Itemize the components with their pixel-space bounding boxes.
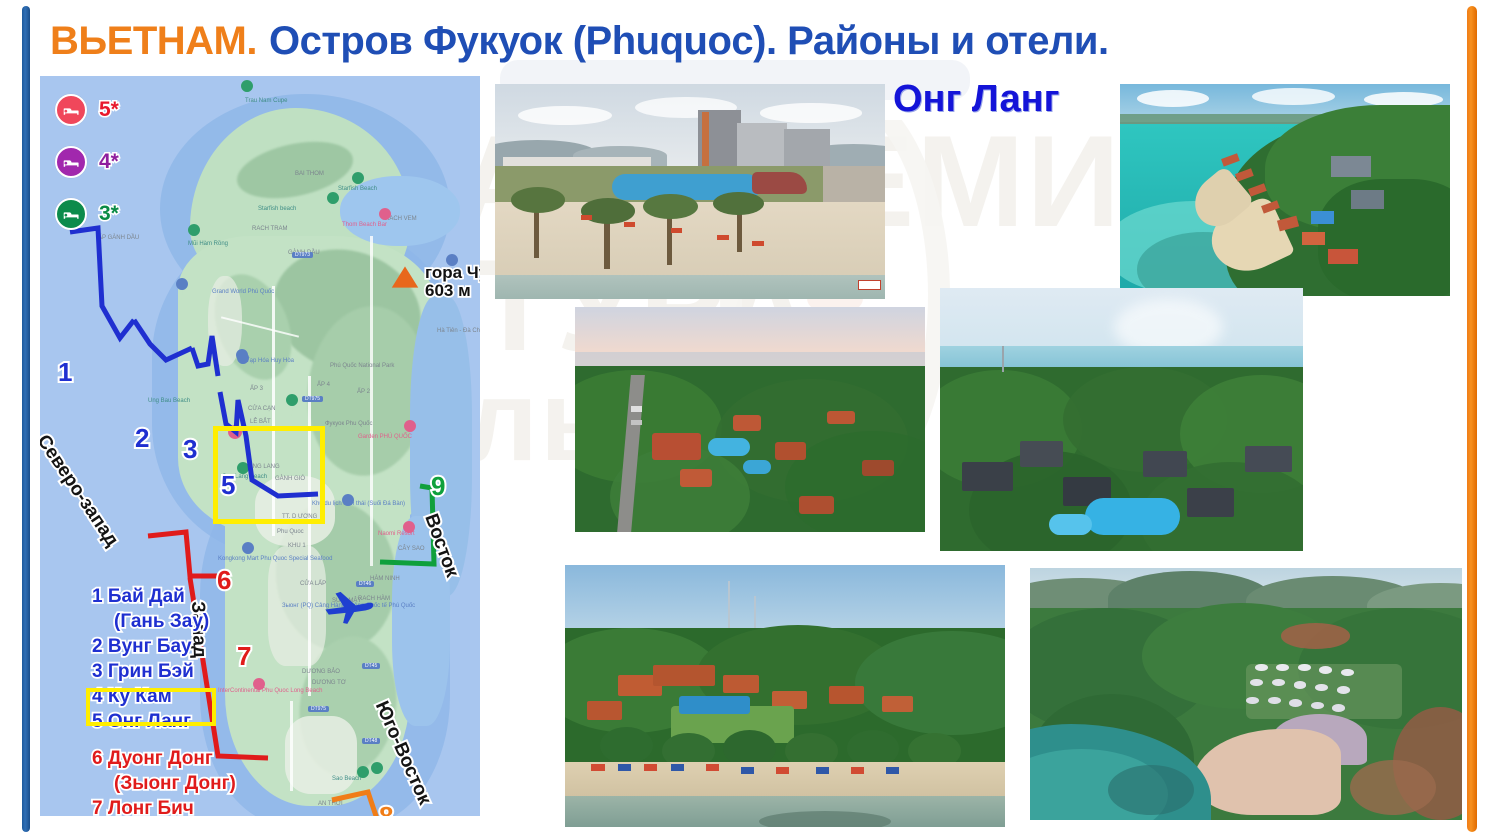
photo-forest-resort-sea[interactable] [940, 288, 1303, 551]
legend-item-5star[interactable]: 5* [55, 94, 119, 126]
district-name-3: Грин Бэй [108, 661, 194, 682]
district-item-2[interactable]: 2 Вунг Бау [92, 634, 272, 659]
district-item-6[interactable]: 6 Дуонг Донг [92, 746, 272, 771]
district-num-3: 3 [92, 661, 103, 682]
route-number-8: 8 [379, 801, 393, 816]
route-number-9: 9 [431, 471, 445, 502]
bed-icon-5star [55, 94, 87, 126]
district-item-7[interactable]: 7 Лонг Бич [92, 796, 272, 816]
district-name-1: Бай Дай [108, 586, 185, 607]
district-num-7: 7 [92, 798, 103, 816]
legend-label-5star: 5* [99, 98, 119, 122]
district-item-3[interactable]: 3 Грин Бэй [92, 659, 272, 684]
mountain-label: гора Чуа 603 м [425, 264, 480, 300]
right-accent-bar [1467, 6, 1477, 832]
bed-icon-3star [55, 198, 87, 230]
photo-hillside-resort[interactable] [1030, 568, 1462, 820]
district-item-1[interactable]: 1 Бай Дай [92, 584, 272, 609]
district-name-2: Вунг Бау [108, 636, 192, 657]
district-sub-1: (Гань Зау) [114, 609, 272, 634]
district-num-1: 1 [92, 586, 103, 607]
legend-label-3star: 3* [99, 202, 119, 226]
route-number-3: 3 [183, 434, 197, 465]
mountain-callout: гора Чуа 603 м [390, 264, 480, 300]
mountain-icon [390, 264, 420, 290]
mountain-elevation: 603 м [425, 282, 480, 300]
district-sub-6: (Зыонг Донг) [114, 771, 272, 796]
district-num-6: 6 [92, 748, 103, 769]
route-number-1: 1 [58, 357, 72, 388]
phu-quoc-map[interactable]: Trau Nam Cupe Thom Beach Bar RACH TRAM M… [40, 76, 480, 816]
page-title: ВЬЕТНАМ. Остров Фукуок (Phuquoc). Районы… [50, 16, 1109, 66]
district-name-6: Дуонг Донг [108, 748, 213, 769]
title-subject: Остров Фукуок (Phuquoc). Районы и отели. [269, 19, 1109, 64]
title-country: ВЬЕТНАМ. [50, 19, 257, 64]
list-highlight-ong-lang [86, 688, 216, 726]
route-number-2: 2 [135, 423, 149, 454]
bed-icon-4star [55, 146, 87, 178]
photo-turquoise-coastline[interactable] [1120, 84, 1450, 296]
district-num-2: 2 [92, 636, 103, 657]
legend-label-4star: 4* [99, 150, 119, 174]
photo-village-aerial[interactable] [575, 307, 925, 532]
left-accent-bar [22, 6, 30, 832]
photo-beach-resort-hotel[interactable] [495, 84, 885, 299]
legend-item-4star[interactable]: 4* [55, 146, 119, 178]
district-name-7: Лонг Бич [108, 798, 194, 816]
section-heading-ong-lang: Онг Ланг [893, 78, 1059, 121]
mountain-name: гора Чуа [425, 264, 480, 282]
map-highlight-ong-lang [213, 426, 325, 524]
photo-beachfront-resort[interactable] [565, 565, 1005, 827]
legend-item-3star[interactable]: 3* [55, 198, 119, 230]
